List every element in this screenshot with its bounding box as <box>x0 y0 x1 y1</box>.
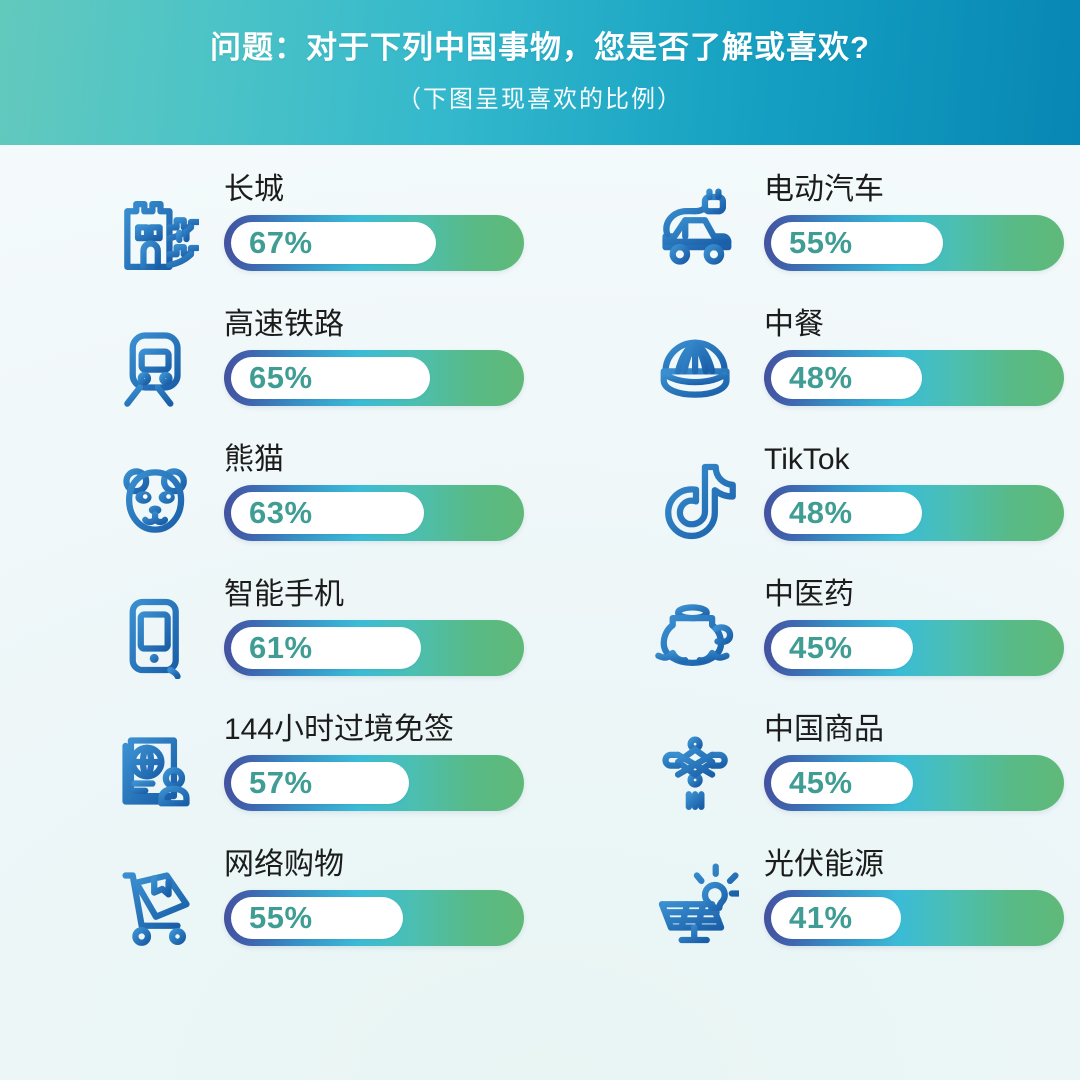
infographic-root: 问题：对于下列中国事物，您是否了解或喜欢? （下图呈现喜欢的比例） 长城67% … <box>0 0 1080 1080</box>
stat-label: 电动汽车 <box>764 173 1064 207</box>
stat-value: 45% <box>789 765 853 801</box>
progress-bar-fill: 63% <box>231 492 424 534</box>
stat-content: 网络购物55% <box>224 842 524 946</box>
stat-content: 中餐48% <box>764 302 1064 406</box>
progress-bar-track: 41% <box>764 890 1064 946</box>
stat-content: 144小时过境免签57% <box>224 707 524 811</box>
stat-content: 高速铁路65% <box>224 302 524 406</box>
stat-content: 光伏能源41% <box>764 842 1064 946</box>
stat-content: 中国商品45% <box>764 707 1064 811</box>
high-speed-train-icon <box>104 314 208 418</box>
progress-bar-fill: 55% <box>771 222 943 264</box>
progress-bar-track: 55% <box>764 215 1064 271</box>
chinese-knot-icon <box>644 719 748 823</box>
progress-bar-fill: 45% <box>771 627 913 669</box>
stat-value: 55% <box>249 900 313 936</box>
progress-bar-track: 48% <box>764 350 1064 406</box>
progress-bar-track: 45% <box>764 620 1064 676</box>
stat-item: 中国商品45% <box>540 707 1080 842</box>
stat-item: 长城67% <box>0 167 540 302</box>
progress-bar-fill: 65% <box>231 357 430 399</box>
stat-item: TikTok48% <box>540 437 1080 572</box>
stat-label: 中餐 <box>764 308 1064 342</box>
progress-bar-fill: 48% <box>771 357 922 399</box>
stat-label: 长城 <box>224 173 524 207</box>
stat-content: 智能手机61% <box>224 572 524 676</box>
header-banner: 问题：对于下列中国事物，您是否了解或喜欢? （下图呈现喜欢的比例） <box>0 0 1080 145</box>
tiktok-icon <box>644 449 748 553</box>
stat-label: 熊猫 <box>224 443 524 477</box>
stat-label: 高速铁路 <box>224 308 524 342</box>
stat-value: 48% <box>789 360 853 396</box>
stat-value: 65% <box>249 360 313 396</box>
electric-car-icon <box>644 179 748 283</box>
stat-label: 中国商品 <box>764 713 1064 747</box>
smartphone-icon <box>104 584 208 688</box>
progress-bar-fill: 61% <box>231 627 421 669</box>
stat-label: 中医药 <box>764 578 1064 612</box>
panda-icon <box>104 449 208 553</box>
progress-bar-fill: 48% <box>771 492 922 534</box>
herbal-pot-icon <box>644 584 748 688</box>
progress-bar-fill: 67% <box>231 222 436 264</box>
page-subtitle: （下图呈现喜欢的比例） <box>397 79 683 114</box>
stat-label: 智能手机 <box>224 578 524 612</box>
stat-item: 中医药45% <box>540 572 1080 707</box>
progress-bar-track: 45% <box>764 755 1064 811</box>
stat-item: 熊猫63% <box>0 437 540 572</box>
stat-content: 电动汽车55% <box>764 167 1064 271</box>
stats-grid: 长城67% 电动汽车55% 高速铁路65% 中餐48% 熊猫63% TikTok… <box>0 145 1080 1080</box>
page-title: 问题：对于下列中国事物，您是否了解或喜欢? <box>210 31 870 65</box>
progress-bar-track: 48% <box>764 485 1064 541</box>
progress-bar-track: 63% <box>224 485 524 541</box>
stat-value: 41% <box>789 900 853 936</box>
stat-value: 63% <box>249 495 313 531</box>
stat-label: 网络购物 <box>224 848 524 882</box>
progress-bar-track: 57% <box>224 755 524 811</box>
stat-content: TikTok48% <box>764 437 1064 541</box>
stat-content: 长城67% <box>224 167 524 271</box>
great-wall-icon <box>104 179 208 283</box>
progress-bar-track: 65% <box>224 350 524 406</box>
progress-bar-track: 55% <box>224 890 524 946</box>
stat-item: 电动汽车55% <box>540 167 1080 302</box>
online-shopping-icon <box>104 854 208 958</box>
stat-label: TikTok <box>764 443 1064 477</box>
stat-item: 144小时过境免签57% <box>0 707 540 842</box>
stat-content: 中医药45% <box>764 572 1064 676</box>
progress-bar-fill: 57% <box>231 762 409 804</box>
visa-passport-icon <box>104 719 208 823</box>
stat-label: 光伏能源 <box>764 848 1064 882</box>
stat-content: 熊猫63% <box>224 437 524 541</box>
stat-item: 智能手机61% <box>0 572 540 707</box>
stat-value: 57% <box>249 765 313 801</box>
stat-item: 网络购物55% <box>0 842 540 977</box>
stat-label: 144小时过境免签 <box>224 713 524 747</box>
stat-value: 67% <box>249 225 313 261</box>
stat-item: 中餐48% <box>540 302 1080 437</box>
progress-bar-track: 61% <box>224 620 524 676</box>
progress-bar-track: 67% <box>224 215 524 271</box>
progress-bar-fill: 41% <box>771 897 901 939</box>
stat-value: 55% <box>789 225 853 261</box>
progress-bar-fill: 55% <box>231 897 403 939</box>
stat-value: 45% <box>789 630 853 666</box>
stat-item: 高速铁路65% <box>0 302 540 437</box>
stat-value: 48% <box>789 495 853 531</box>
stat-item: 光伏能源41% <box>540 842 1080 977</box>
solar-energy-icon <box>644 854 748 958</box>
progress-bar-fill: 45% <box>771 762 913 804</box>
stat-value: 61% <box>249 630 313 666</box>
dumpling-icon <box>644 314 748 418</box>
